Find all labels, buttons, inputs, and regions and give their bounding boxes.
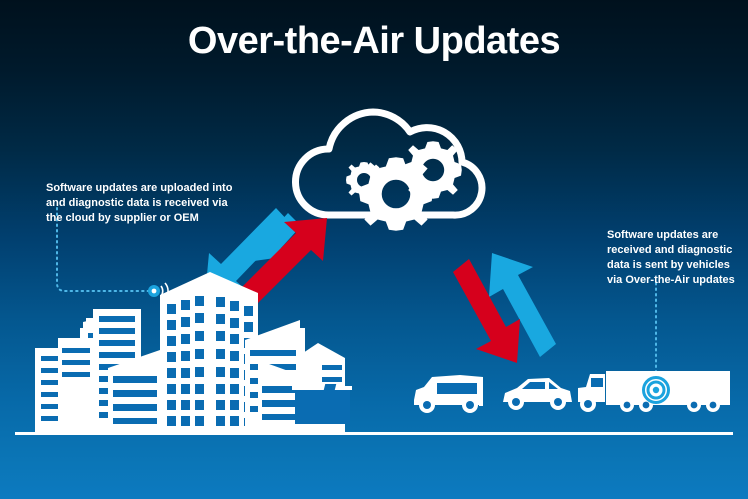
- gear-icon-large: [359, 157, 432, 230]
- cloud-node: [295, 112, 481, 231]
- callout-right-text: Software updates are received and diagno…: [607, 228, 739, 287]
- callout-left-text: Software updates are uploaded into and d…: [46, 181, 246, 226]
- city-buildings-node: [35, 272, 352, 434]
- signal-marker-truck: [644, 378, 669, 403]
- vehicle-car: [503, 378, 572, 410]
- infographic-canvas: Over-the-Air Updates: [0, 0, 748, 499]
